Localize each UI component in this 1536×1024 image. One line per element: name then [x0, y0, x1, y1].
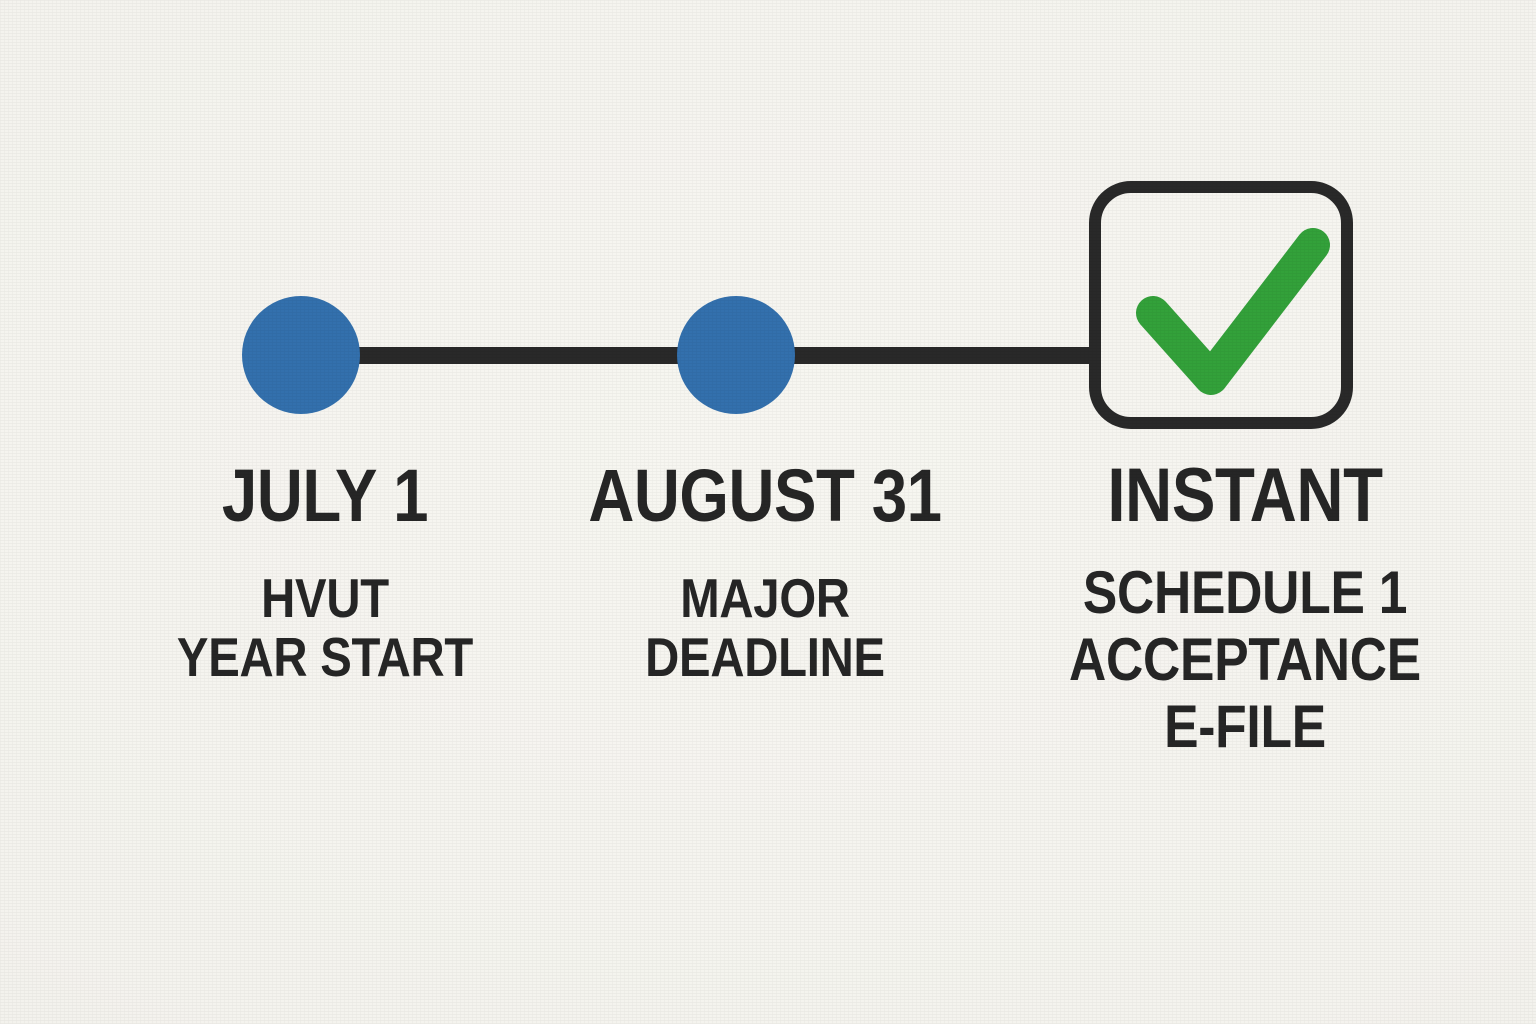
timeline-node-july-1[interactable] [242, 296, 360, 414]
timeline-connector-2 [765, 347, 1100, 364]
timeline-connector-1 [330, 347, 710, 364]
timeline-node-instant-acceptance[interactable] [1089, 181, 1353, 429]
milestone-subline: HVUT [149, 569, 502, 628]
timeline-node-august-31[interactable] [677, 296, 795, 414]
milestone-subline: YEAR START [149, 628, 502, 687]
milestone-subline: ACCEPTANCE [1034, 626, 1455, 693]
milestone-headline: INSTANT [1034, 460, 1455, 533]
milestone-subline: E-FILE [1034, 693, 1455, 760]
milestone-sublines: HVUT YEAR START [120, 569, 530, 687]
milestone-subline: MAJOR [563, 569, 967, 628]
milestone-subline: SCHEDULE 1 [1034, 559, 1455, 626]
milestone-label-july-1: JULY 1 HVUT YEAR START [120, 460, 530, 687]
milestone-sublines: SCHEDULE 1 ACCEPTANCE E-FILE [1000, 559, 1490, 761]
milestone-label-august-31: AUGUST 31 MAJOR DEADLINE [530, 460, 1000, 687]
milestone-headline: JULY 1 [149, 460, 502, 531]
check-mark-icon [1101, 193, 1365, 441]
diagram-canvas: JULY 1 HVUT YEAR START AUGUST 31 MAJOR D… [0, 0, 1536, 1024]
milestone-label-instant-acceptance: INSTANT SCHEDULE 1 ACCEPTANCE E-FILE [1000, 460, 1490, 761]
milestone-subline: DEADLINE [563, 628, 967, 687]
timeline-labels: JULY 1 HVUT YEAR START AUGUST 31 MAJOR D… [0, 460, 1536, 860]
milestone-sublines: MAJOR DEADLINE [530, 569, 1000, 687]
milestone-headline: AUGUST 31 [563, 460, 967, 531]
